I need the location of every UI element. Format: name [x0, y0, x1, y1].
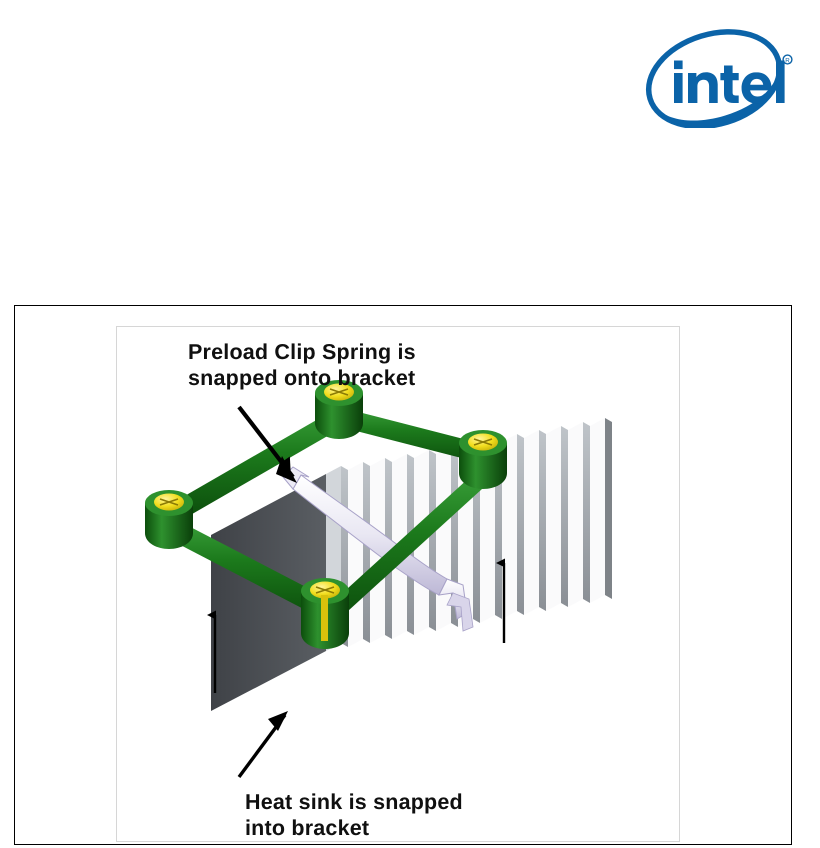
figure-box: Preload Clip Spring is snapped onto brac… — [14, 305, 792, 845]
bracket-boss-front — [301, 578, 349, 649]
illustration-frame: Preload Clip Spring is snapped onto brac… — [116, 326, 680, 842]
callout-preload-clip-spring: Preload Clip Spring is snapped onto brac… — [188, 339, 416, 391]
registered-trademark-icon: R — [783, 55, 792, 64]
heat-sink-assembly-illustration — [117, 327, 680, 842]
intel-wordmark — [674, 61, 785, 104]
callout-heat-sink: Heat sink is snapped into bracket — [245, 789, 463, 841]
intel-logo: R — [636, 26, 794, 128]
bracket-boss-right — [459, 430, 507, 489]
bracket-boss-left — [145, 490, 193, 549]
svg-text:R: R — [785, 57, 790, 64]
